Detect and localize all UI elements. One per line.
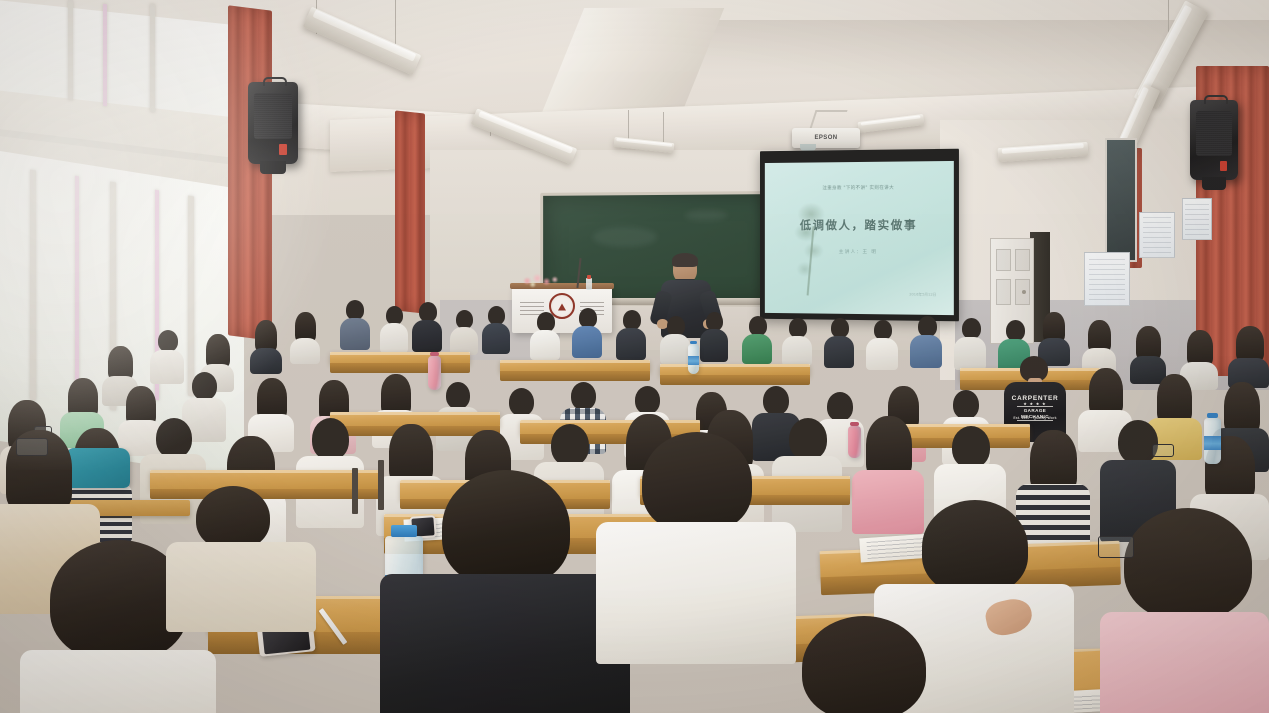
student-back-row: [482, 306, 510, 352]
window-mullion: [188, 196, 194, 397]
student-back-row: [1130, 326, 1166, 380]
student-foreground-beige: [166, 486, 316, 626]
speaker-mount: [260, 161, 286, 174]
door-panel: [996, 279, 1011, 305]
speaker-badge: [279, 144, 287, 155]
student-back-row: [290, 312, 320, 360]
student-back-row: [660, 316, 690, 362]
student-back-row: [1228, 326, 1269, 384]
eyeglasses: [1152, 444, 1174, 457]
ceiling-projector: EPSON: [792, 128, 860, 148]
door-panel: [996, 249, 1011, 271]
student-back-row: [616, 310, 646, 358]
shirt-print-line3: Est. 1947 · Quality Work: [1004, 416, 1066, 420]
student-desk: [660, 364, 810, 376]
student-back-row: [530, 312, 560, 358]
light-cord: [395, 0, 396, 48]
slide-header-text: 注重身教 "下的不讲" 实则在讲大: [765, 184, 954, 191]
slide-date-text: 2016年5月12日: [909, 293, 936, 298]
water-bottle: [1204, 418, 1221, 464]
window-mullion: [150, 4, 155, 113]
lectern-water-bottle: [586, 278, 592, 290]
slide-presenter-text: 主讲人：王 明: [765, 248, 954, 254]
speaker-mount: [1202, 177, 1227, 190]
wall-poster: [1084, 252, 1130, 306]
window-mullion: [75, 176, 79, 397]
student-back-row: [824, 318, 854, 366]
light-cord: [628, 110, 629, 142]
student-back-row: [450, 310, 478, 352]
classroom-photo: EPSON 注重身教 "下的不讲" 实则在讲大 低调做人，踏实做事 主讲人：王 …: [0, 0, 1269, 713]
right-wall-window: [1105, 138, 1137, 262]
student-desk: [330, 352, 470, 364]
wall-speaker-right: [1190, 100, 1238, 180]
student-back-row: [380, 306, 408, 350]
student-foreground-center: [380, 470, 630, 713]
door-knob[interactable]: [1022, 290, 1026, 294]
desk-leg: [352, 468, 358, 514]
student-back-row: [1082, 320, 1116, 372]
pink-thermos: [428, 356, 441, 390]
projector-brand-label: EPSON: [814, 135, 837, 141]
student-back-row: [910, 316, 942, 366]
speaker-grille: [254, 93, 292, 139]
speaker-grille: [1196, 111, 1232, 156]
student-foreground-back-head: [770, 616, 960, 713]
student-back-row: [572, 308, 602, 356]
slide-canvas: 注重身教 "下的不讲" 实则在讲大 低调做人，踏实做事 主讲人：王 明 2016…: [765, 161, 954, 315]
speaker-handle: [1204, 95, 1227, 103]
speaker-badge: [1220, 161, 1228, 171]
eyeglasses: [1098, 536, 1134, 558]
student-back-row: [700, 312, 728, 360]
window-mullion: [103, 4, 107, 106]
student-back-row: [412, 302, 442, 350]
student-back-row: [866, 320, 898, 368]
student-desk: [500, 360, 650, 372]
lecturer-hair: [672, 253, 698, 267]
speaker-handle: [263, 77, 287, 86]
light-cord: [663, 112, 664, 142]
wall-speaker-left: [248, 82, 298, 164]
slide-title-text: 低调做人，踏实做事: [765, 216, 954, 232]
student-back-row: [782, 318, 812, 364]
wall-poster: [1139, 212, 1175, 258]
curtain-left-inner: [395, 110, 425, 313]
student-back-row: [742, 316, 772, 362]
eyeglasses: [16, 438, 48, 456]
student-back-row: [150, 330, 184, 382]
student-back-row: [250, 320, 282, 370]
window-mullion: [68, 0, 73, 100]
door-panel: [1015, 249, 1030, 271]
student-back-row: [340, 300, 370, 348]
student-back-row: [954, 318, 986, 368]
student-foreground-white-tee: [596, 432, 796, 662]
water-bottle: [688, 344, 699, 374]
flower-arrangement: [518, 270, 564, 290]
window-mullion: [30, 170, 36, 401]
wall-poster: [1182, 198, 1212, 240]
projection-screen: 注重身教 "下的不讲" 实则在讲大 低调做人，踏实做事 主讲人：王 明 2016…: [760, 149, 959, 322]
